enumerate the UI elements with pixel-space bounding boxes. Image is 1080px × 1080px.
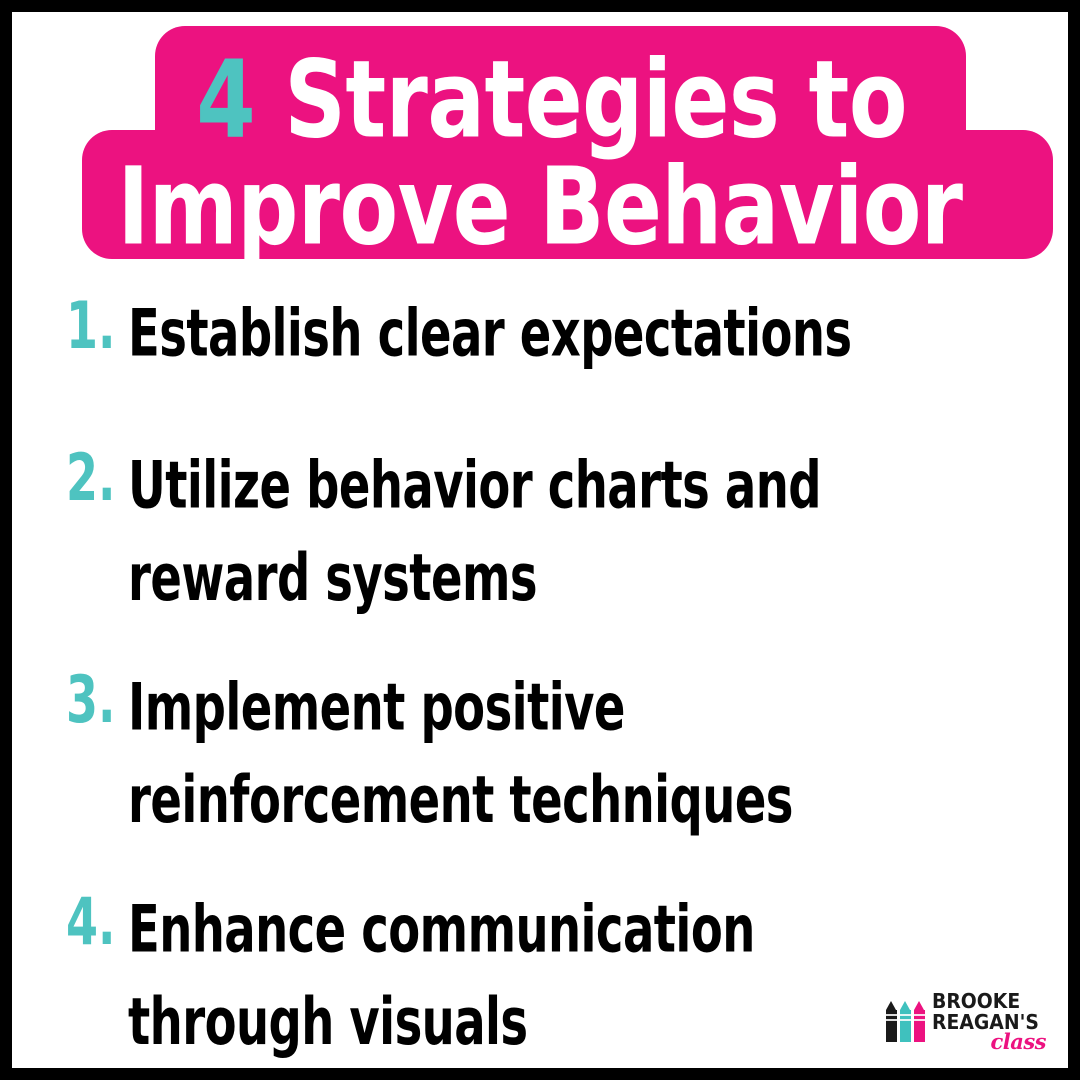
list-item: 2. Utilize behavior charts and reward sy… xyxy=(66,440,873,582)
crayons-group-icon xyxy=(886,1001,925,1042)
crayon-teal-icon xyxy=(900,1001,911,1042)
list-item-text: Establish clear expectations xyxy=(128,288,852,380)
brand-name-last: REAGAN'S xyxy=(932,1012,1039,1032)
brand-name-script: class xyxy=(932,1031,1046,1052)
list-item-number: 1. xyxy=(66,288,123,358)
brand-name-first: BROOKE xyxy=(932,991,1039,1011)
list-item-number: 4. xyxy=(66,884,123,954)
list-item-text: Implement positive reinforcement techniq… xyxy=(128,662,793,847)
list-item: 1. Establish clear expectations xyxy=(66,288,906,359)
title-banner: 4 Strategies to Improve Behavior xyxy=(12,12,1068,260)
crayon-pink-icon xyxy=(914,1001,925,1042)
brand-logo: BROOKE REAGAN'S class xyxy=(886,991,1046,1052)
title-line-2: Improve Behavior xyxy=(28,153,1052,260)
poster-frame: 4 Strategies to Improve Behavior 1. Esta… xyxy=(0,0,1080,1080)
poster-canvas: 4 Strategies to Improve Behavior 1. Esta… xyxy=(12,12,1068,1068)
title-line-1: 4 Strategies to xyxy=(28,46,1052,153)
list-item: 4. Enhance communication through visuals xyxy=(66,884,802,1026)
list-item: 3. Implement positive reinforcement tech… xyxy=(66,662,843,804)
list-item-text: Enhance communication through visuals xyxy=(128,884,755,1068)
crayon-black-icon xyxy=(886,1001,897,1042)
list-item-text: Utilize behavior charts and reward syste… xyxy=(128,440,821,625)
brand-logo-text: BROOKE REAGAN'S class xyxy=(932,991,1046,1052)
list-item-number: 3. xyxy=(66,662,123,732)
list-item-number: 2. xyxy=(66,440,123,510)
